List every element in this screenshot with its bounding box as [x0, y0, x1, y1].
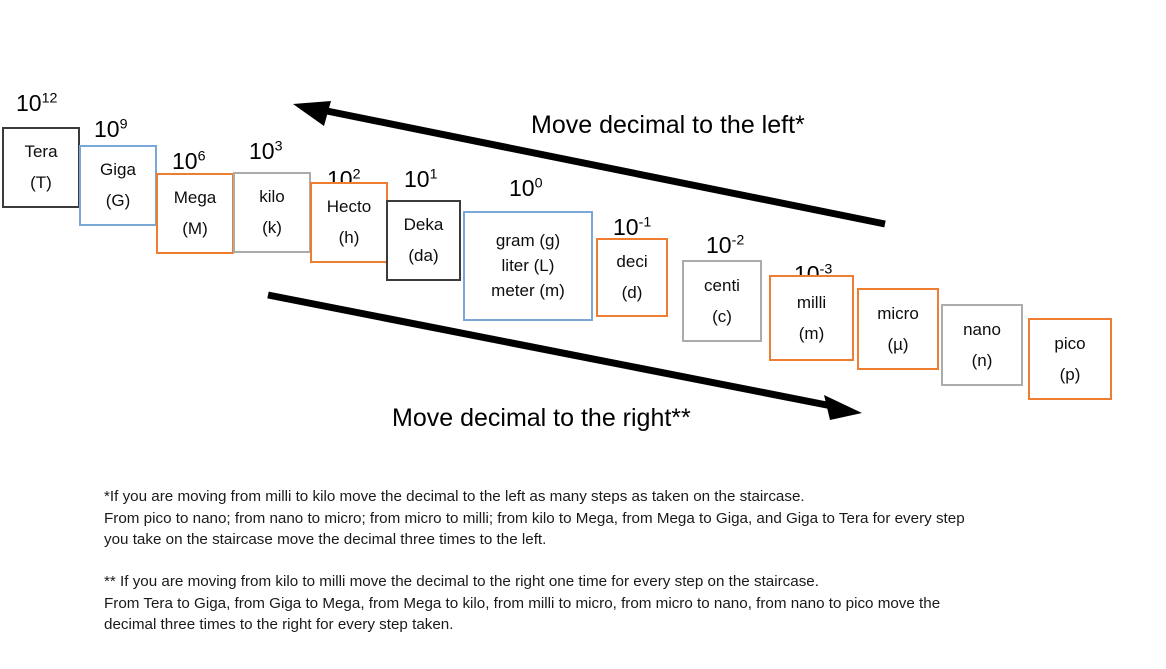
step-name-deci: deci: [616, 253, 647, 271]
step-box-tera: Tera (T): [2, 127, 80, 208]
step-symbol-deka: (da): [408, 247, 438, 265]
base-unit-lines: gram (g) liter (L) meter (m): [491, 231, 565, 301]
exponent-power-tera: 12: [42, 90, 58, 106]
footnote-block-right: ** If you are moving from kilo to milli …: [104, 571, 1104, 636]
step-name-kilo: kilo: [259, 188, 285, 206]
step-box-nano: nano (n): [941, 304, 1023, 386]
step-symbol-tera: (T): [30, 174, 52, 192]
step-symbol-giga: (G): [106, 192, 131, 210]
exponent-power-hecto: 2: [353, 166, 361, 182]
step-name-nano: nano: [963, 321, 1001, 339]
base-unit-meter: meter (m): [491, 281, 565, 301]
step-symbol-milli: (m): [799, 325, 824, 343]
step-box-deci: deci (d): [596, 238, 668, 317]
footnote-block-left: *If you are moving from milli to kilo mo…: [104, 486, 1104, 551]
exponent-power-base: 0: [535, 175, 543, 191]
step-box-deka: Deka (da): [386, 200, 461, 281]
exponent-label-tera: 1012: [16, 92, 57, 115]
exponent-label-centi: 10-2: [706, 234, 744, 257]
step-name-deka: Deka: [404, 216, 444, 234]
exponent-power-mega: 6: [198, 148, 206, 164]
base-unit-liter: liter (L): [502, 256, 555, 276]
exponent-label-deci: 10-1: [613, 216, 651, 239]
step-symbol-kilo: (k): [262, 219, 282, 237]
step-box-pico: pico (p): [1028, 318, 1112, 400]
step-symbol-deci: (d): [622, 284, 643, 302]
step-box-hecto: Hecto (h): [310, 182, 388, 263]
step-name-pico: pico: [1054, 335, 1085, 353]
exponent-label-kilo: 103: [249, 140, 283, 163]
exponent-label-mega: 106: [172, 150, 206, 173]
step-name-centi: centi: [704, 277, 740, 295]
step-symbol-pico: (p): [1060, 366, 1081, 384]
step-symbol-hecto: (h): [339, 229, 360, 247]
exponent-label-giga: 109: [94, 118, 128, 141]
metric-staircase-diagram: 1012 109 106 103 102 101 100 10-1 10-2 1…: [0, 0, 1166, 669]
exponent-label-deka: 101: [404, 168, 438, 191]
step-box-base-unit: gram (g) liter (L) meter (m): [463, 211, 593, 321]
step-box-centi: centi (c): [682, 260, 762, 342]
exponent-power-centi: -2: [732, 232, 745, 248]
footnote-right-line-1: ** If you are moving from kilo to milli …: [104, 571, 1104, 593]
footnote-left-line-1: *If you are moving from milli to kilo mo…: [104, 486, 1104, 508]
step-box-mega: Mega (M): [156, 173, 234, 254]
step-box-micro: micro (µ): [857, 288, 939, 370]
move-right-arrow-label: Move decimal to the right**: [392, 406, 691, 431]
step-name-mega: Mega: [174, 189, 217, 207]
step-box-kilo: kilo (k): [233, 172, 311, 253]
exponent-power-giga: 9: [120, 116, 128, 132]
step-symbol-mega: (M): [182, 220, 207, 238]
footnote-right-line-3: decimal three times to the right for eve…: [104, 614, 1104, 636]
step-name-milli: milli: [797, 294, 826, 312]
exponent-label-base: 100: [509, 177, 543, 200]
step-name-tera: Tera: [24, 143, 57, 161]
step-box-milli: milli (m): [769, 275, 854, 361]
step-symbol-micro: (µ): [887, 336, 908, 354]
exponent-power-deka: 1: [430, 166, 438, 182]
base-unit-gram: gram (g): [496, 231, 560, 251]
step-box-giga: Giga (G): [79, 145, 157, 226]
footnote-left-line-3: you take on the staircase move the decim…: [104, 529, 1104, 551]
move-left-arrow-label: Move decimal to the left*: [531, 113, 805, 138]
exponent-power-deci: -1: [639, 214, 652, 230]
exponent-power-kilo: 3: [275, 138, 283, 154]
step-name-hecto: Hecto: [327, 198, 371, 216]
footnote-left-line-2: From pico to nano; from nano to micro; f…: [104, 508, 1104, 530]
step-symbol-centi: (c): [712, 308, 732, 326]
step-symbol-nano: (n): [972, 352, 993, 370]
step-name-giga: Giga: [100, 161, 136, 179]
footnote-right-line-2: From Tera to Giga, from Giga to Mega, fr…: [104, 593, 1104, 615]
step-name-micro: micro: [877, 305, 919, 323]
